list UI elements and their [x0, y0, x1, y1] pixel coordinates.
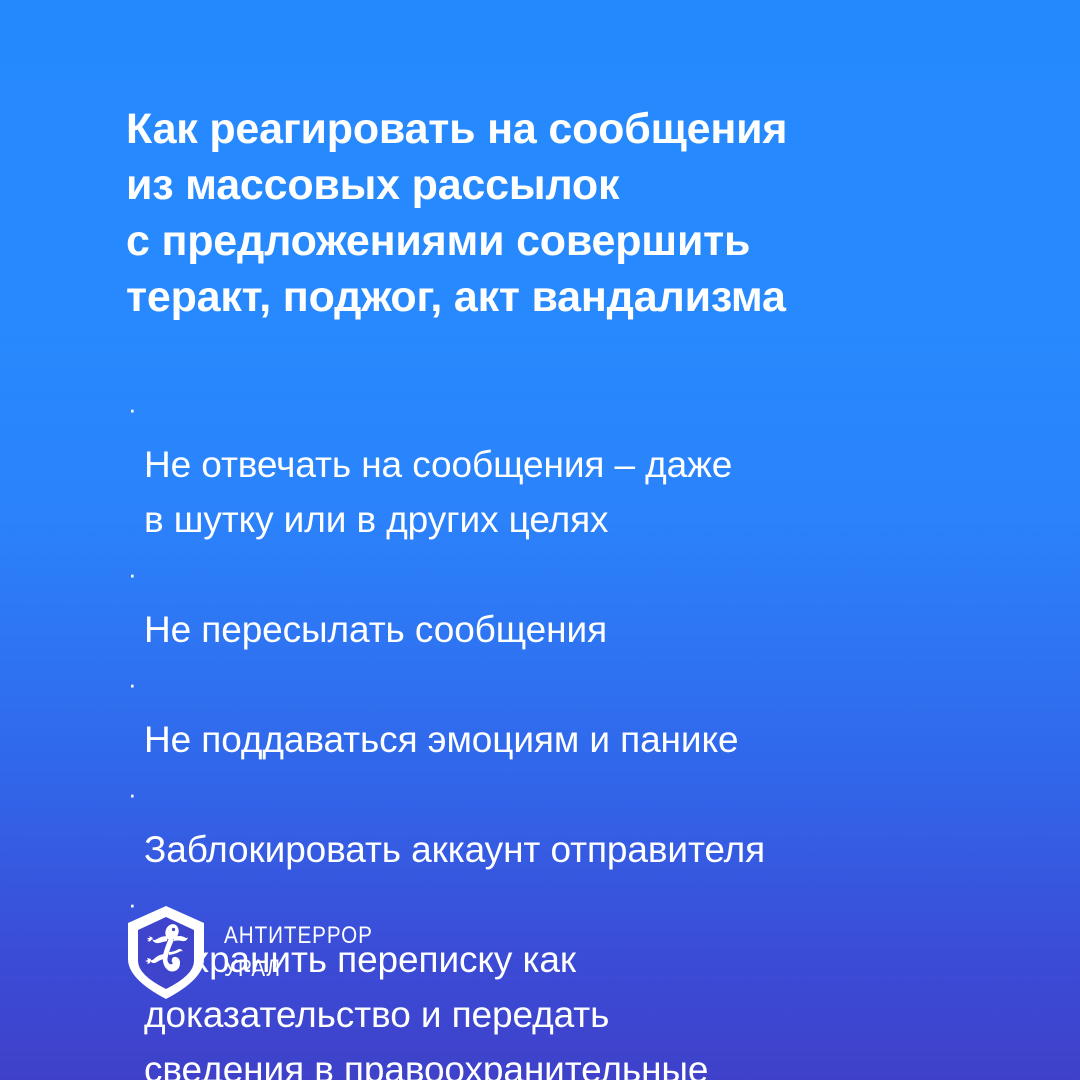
list-item: ·Не пересылать сообщения: [127, 547, 987, 657]
page-title: Как реагировать на сообщения из массовых…: [126, 101, 956, 325]
list-item: ·Не отвечать на сообщения – даже в шутку…: [127, 382, 987, 547]
bullet-dot-icon: ·: [128, 382, 137, 437]
brand-logo-text: АНТИТЕРРОР УРАЛ: [224, 921, 397, 984]
bullet-dot-icon: ·: [128, 657, 137, 712]
shield-lizard-emblem-icon: [126, 905, 206, 1000]
list-item: ·Заблокировать аккаунт отправителя: [127, 767, 987, 877]
list-item-text: Не поддаваться эмоциям и панике: [144, 719, 738, 760]
bullet-dot-icon: ·: [128, 547, 137, 602]
brand-logo: АНТИТЕРРОР УРАЛ: [126, 905, 397, 1000]
bullet-dot-icon: ·: [128, 767, 137, 822]
brand-name-line-1: АНТИТЕРРОР: [224, 921, 373, 951]
list-item-text: Не отвечать на сообщения – даже в шутку …: [144, 444, 732, 540]
brand-name-line-2: УРАЛ: [224, 954, 373, 984]
list-item-text: Заблокировать аккаунт отправителя: [144, 829, 765, 870]
list-item: ·Не поддаваться эмоциям и панике: [127, 657, 987, 767]
list-item-text: Не пересылать сообщения: [144, 609, 607, 650]
poster-canvas: Как реагировать на сообщения из массовых…: [0, 0, 1080, 1080]
